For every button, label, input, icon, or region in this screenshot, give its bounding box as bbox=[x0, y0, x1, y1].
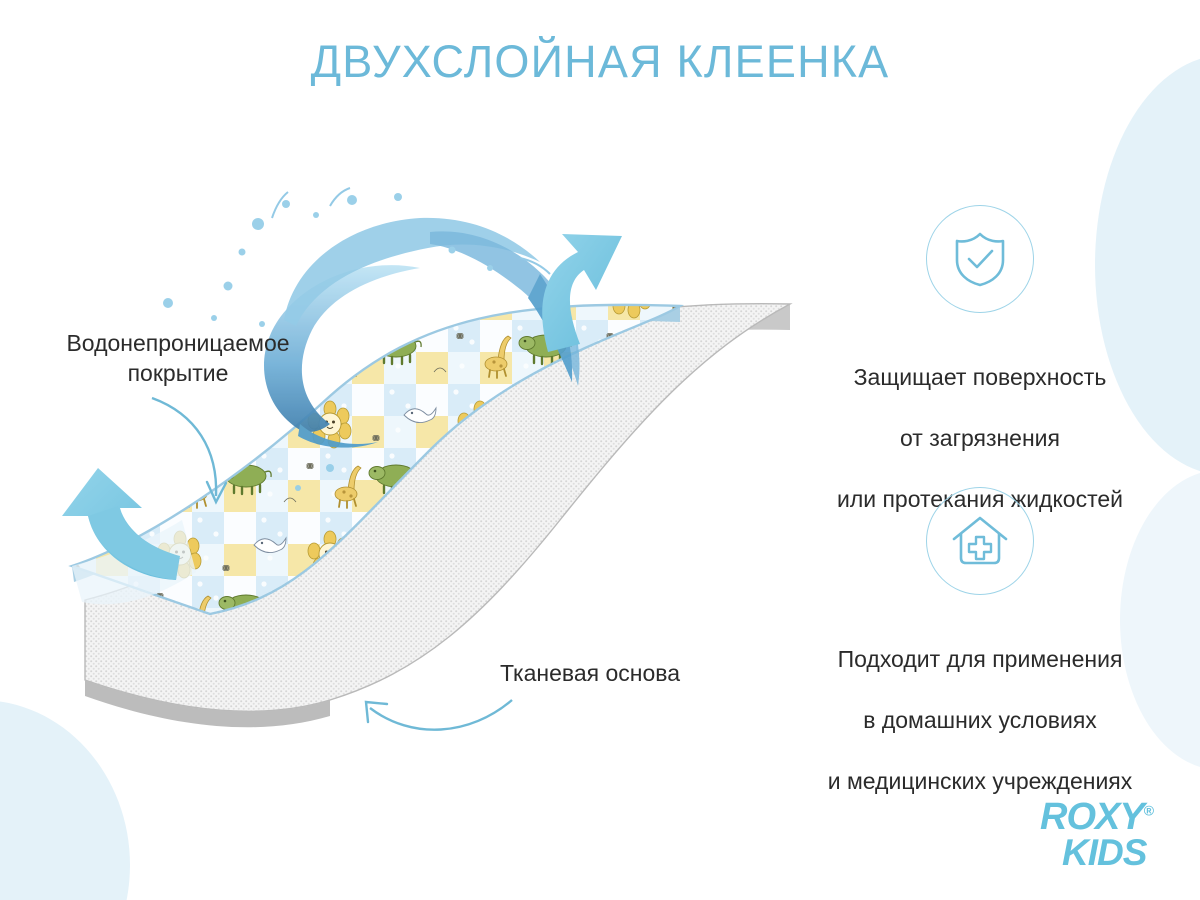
registered-trademark-icon: ® bbox=[1144, 802, 1153, 818]
feature-home-medical-use: Подходит для применения в домашних услов… bbox=[780, 487, 1180, 827]
brand-logo: ROXY® KIDS bbox=[1040, 800, 1180, 880]
page-title: ДВУХСЛОЙНАЯ КЛЕЕНКА bbox=[0, 36, 1200, 88]
house-medical-cross-glyph bbox=[950, 512, 1010, 570]
shield-check-icon bbox=[926, 205, 1034, 313]
feature-1-line-1: Защищает поверхность bbox=[780, 362, 1180, 393]
shield-check-glyph bbox=[952, 230, 1008, 288]
logo-kids-text: KIDS bbox=[1062, 835, 1180, 870]
feature-2-line-2: в домашних условиях bbox=[780, 705, 1180, 736]
label-waterproof-line-1: Водонепроницаемое bbox=[18, 328, 338, 358]
logo-roxy-text: ROXY® bbox=[1040, 800, 1180, 835]
infographic-canvas: ДВУХСЛОЙНАЯ КЛЕЕНКА Водонепроницаемое по… bbox=[0, 0, 1200, 900]
arrow-waterproof-pointer-icon bbox=[152, 398, 226, 502]
feature-1-line-2: от загрязнения bbox=[780, 423, 1180, 454]
label-fabric-base: Тканевая основа bbox=[455, 658, 725, 688]
label-waterproof-coating: Водонепроницаемое покрытие bbox=[18, 328, 338, 389]
label-waterproof-line-2: покрытие bbox=[18, 358, 338, 388]
feature-2-line-1: Подходит для применения bbox=[780, 644, 1180, 675]
feature-home-medical-text: Подходит для применения в домашних услов… bbox=[780, 613, 1180, 827]
house-medical-cross-icon bbox=[926, 487, 1034, 595]
arrow-fabric-pointer-icon bbox=[366, 700, 512, 730]
feature-2-line-3: и медицинских учреждениях bbox=[780, 766, 1180, 797]
